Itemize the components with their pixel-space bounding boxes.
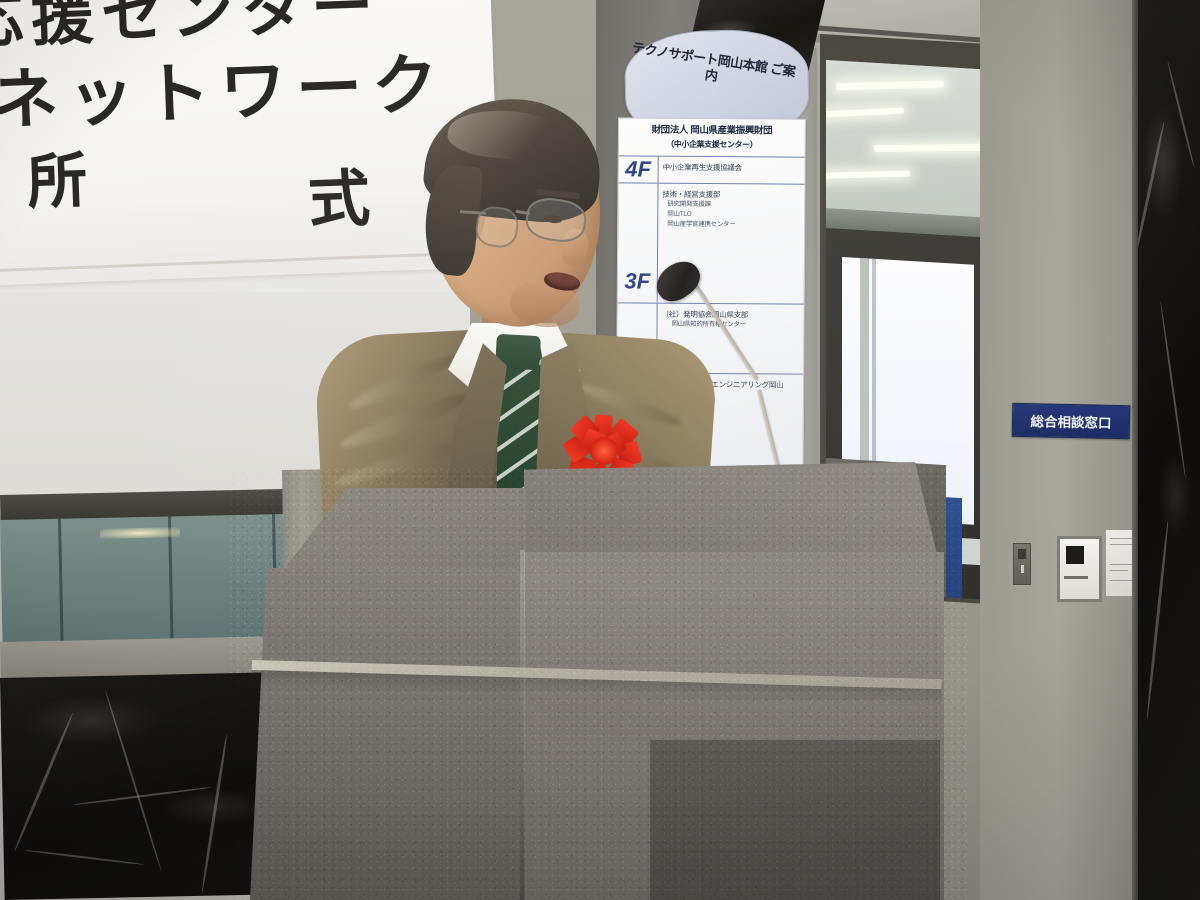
black-marble-column (1138, 0, 1200, 900)
light-switch-indicator (1021, 565, 1024, 573)
card-reader-slot (1064, 576, 1088, 579)
glass-reflection-highlight (100, 527, 180, 539)
right-wall (980, 0, 1155, 900)
lectern-stone-grain (230, 468, 970, 900)
rosette-center (590, 437, 618, 465)
stone-lectern (230, 468, 970, 900)
card-reader-screen (1066, 546, 1084, 564)
photograph-scene: 総合相談窓口 テクノサポート岡山本館 ご案内 財団法人 岡山県産業振興財団 （中… (0, 0, 1200, 900)
ceiling-light-tube (874, 144, 994, 152)
wall-sign-label: 総合相談窓口 (1030, 410, 1111, 432)
general-consultation-desk-sign: 総合相談窓口 (1012, 403, 1131, 439)
light-switch-button[interactable] (1018, 549, 1026, 559)
banner-line-3: 所 (25, 132, 96, 221)
